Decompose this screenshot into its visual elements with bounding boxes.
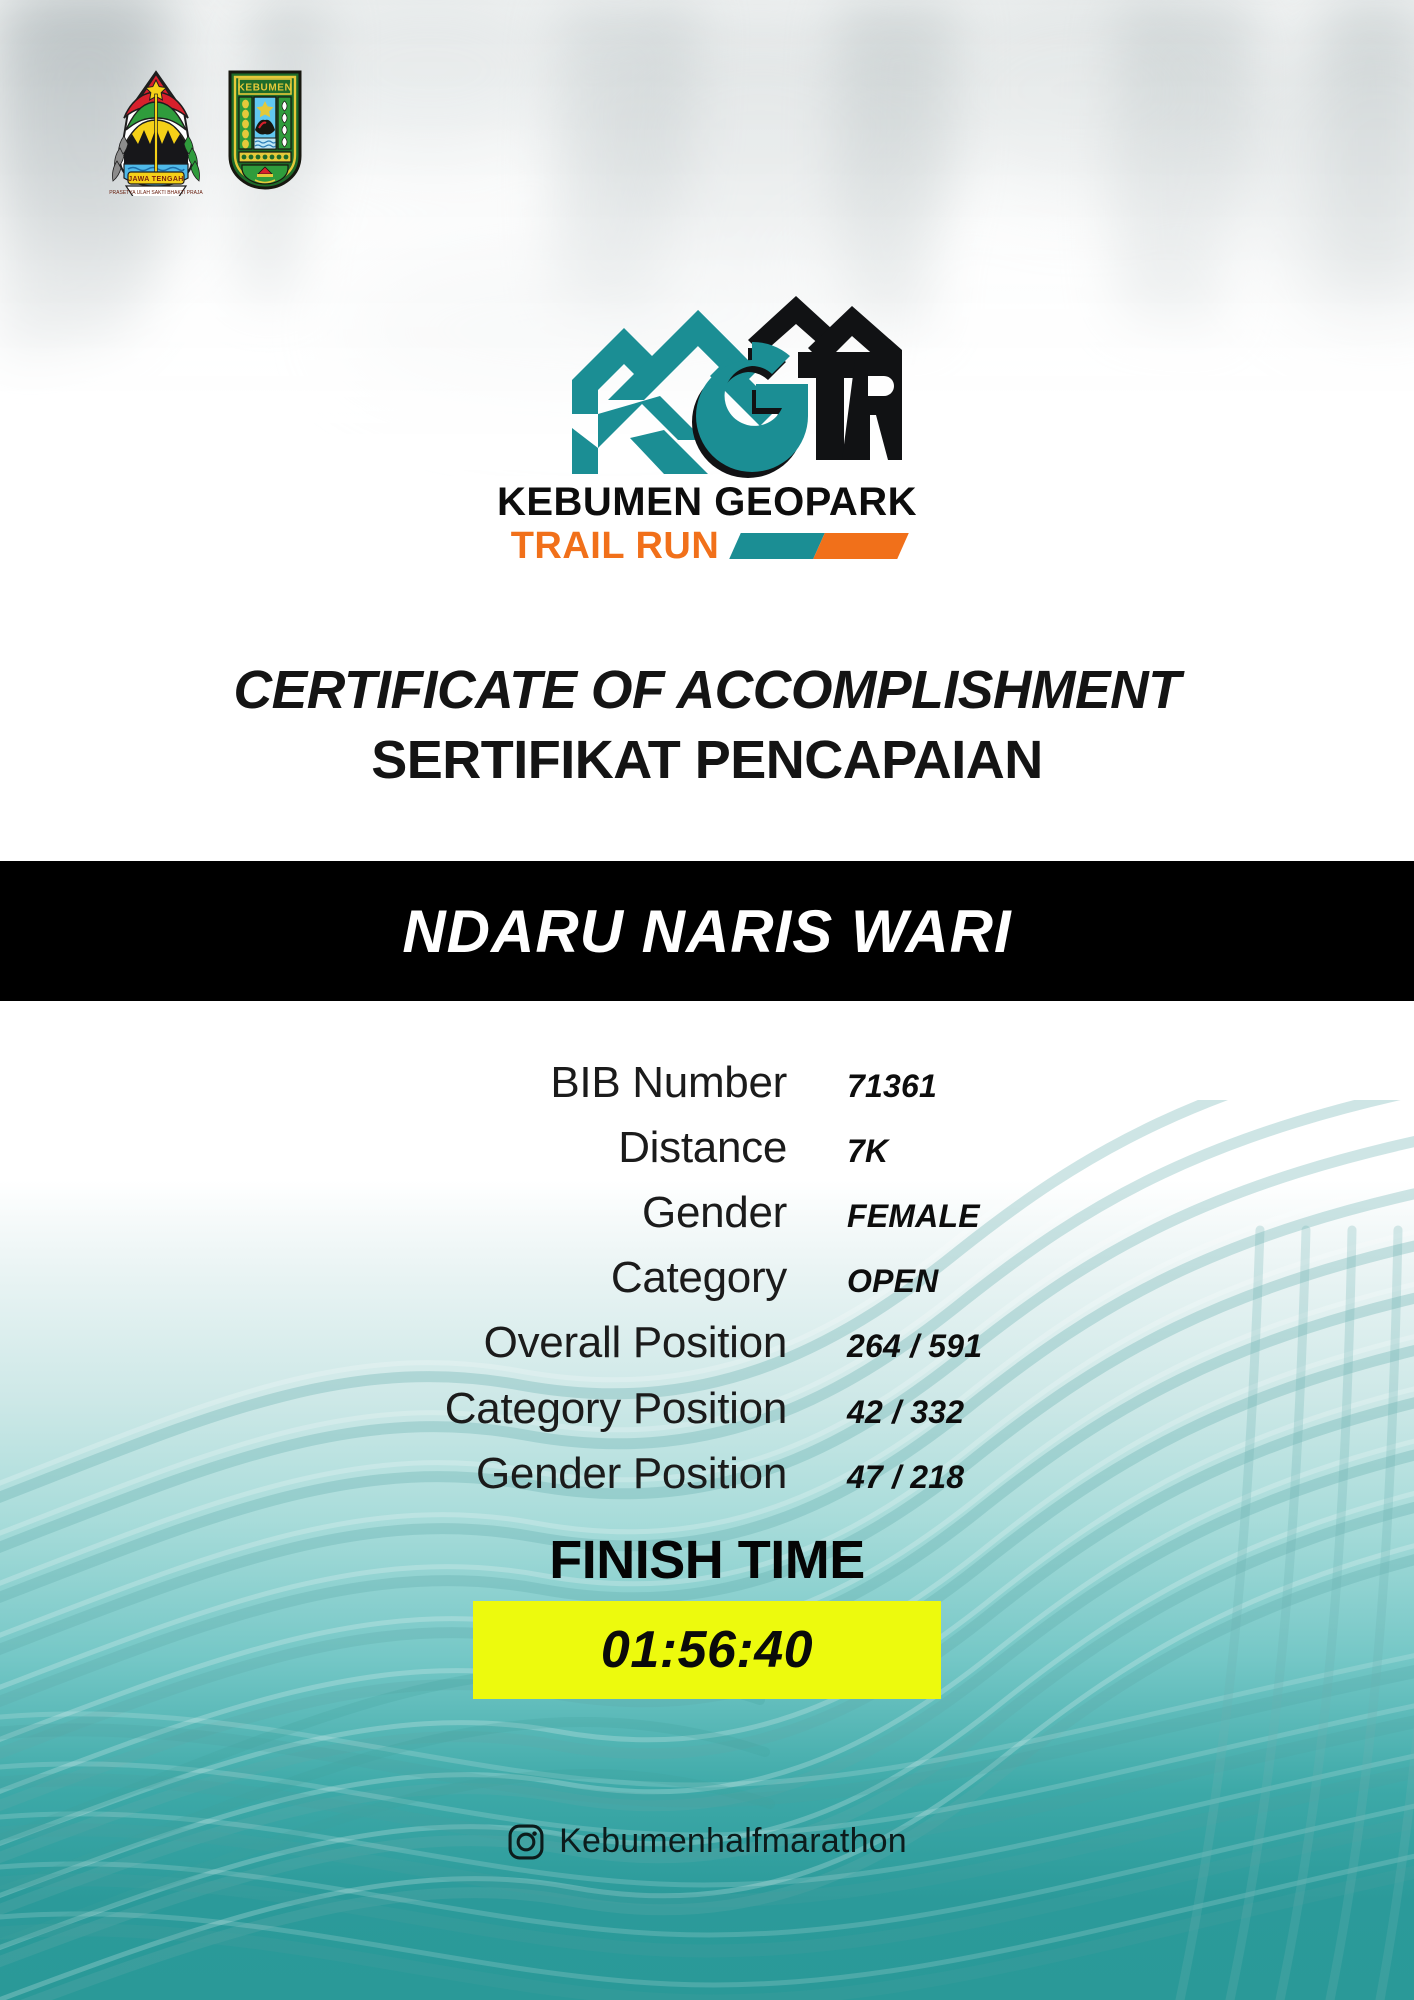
certificate-titles: CERTIFICATE OF ACCOMPLISHMENT SERTIFIKAT… <box>0 660 1414 791</box>
instagram-icon <box>507 1823 545 1861</box>
logo-bar-teal <box>729 533 825 559</box>
jawa-tengah-provincial-emblem: JAWA TENGAH PRASETYA ULAH SAKTI BHAKTI P… <box>108 68 204 196</box>
table-row: Gender FEMALE <box>327 1180 1087 1245</box>
detail-label: Overall Position <box>327 1310 787 1375</box>
logo-line-trail-run: TRAIL RUN <box>511 527 720 565</box>
detail-value: 7K <box>787 1133 1087 1170</box>
table-row: Distance 7K <box>327 1115 1087 1180</box>
detail-value: 42 / 332 <box>787 1394 1087 1431</box>
detail-value: 47 / 218 <box>787 1459 1087 1496</box>
detail-value: FEMALE <box>787 1198 1087 1235</box>
kgtr-monogram-icon <box>512 288 902 488</box>
logo-bar-orange <box>813 533 909 559</box>
finish-time-highlight: 01:56:40 <box>473 1601 941 1699</box>
detail-label: Gender Position <box>327 1441 787 1506</box>
finish-time-value: 01:56:40 <box>601 1620 813 1680</box>
event-logo: KEBUMEN GEOPARK TRAIL RUN <box>0 288 1414 565</box>
finish-time-block: FINISH TIME 01:56:40 <box>0 1532 1414 1699</box>
participant-name: NDARU NARIS WARI <box>402 897 1011 966</box>
table-row: Gender Position 47 / 218 <box>327 1441 1087 1506</box>
finish-time-label: FINISH TIME <box>549 1532 865 1589</box>
table-row: BIB Number 71361 <box>327 1050 1087 1115</box>
header-emblems: JAWA TENGAH PRASETYA ULAH SAKTI BHAKTI P… <box>108 68 308 196</box>
certificate-page: JAWA TENGAH PRASETYA ULAH SAKTI BHAKTI P… <box>0 0 1414 2000</box>
detail-label: Distance <box>327 1115 787 1180</box>
logo-line-kebumen-geopark: KEBUMEN GEOPARK <box>497 482 917 522</box>
instagram-handle: Kebumenhalfmarathon <box>559 1822 907 1861</box>
detail-value: OPEN <box>787 1263 1087 1300</box>
detail-label: Category <box>327 1245 787 1310</box>
footer-social: Kebumenhalfmarathon <box>0 1822 1414 1861</box>
table-row: Category Position 42 / 332 <box>327 1376 1087 1441</box>
table-row: Category OPEN <box>327 1245 1087 1310</box>
certificate-title-indonesian: SERTIFIKAT PENCAPAIAN <box>0 730 1414 790</box>
detail-label: Category Position <box>327 1376 787 1441</box>
logo-accent-bars <box>735 533 903 559</box>
logo-wordmark: KEBUMEN GEOPARK TRAIL RUN <box>497 482 917 565</box>
certificate-title-english: CERTIFICATE OF ACCOMPLISHMENT <box>7 660 1407 720</box>
participant-name-banner: NDARU NARIS WARI <box>0 861 1414 1001</box>
kebumen-regency-emblem: KEBUMEN <box>222 68 308 192</box>
result-details-table: BIB Number 71361 Distance 7K Gender FEMA… <box>0 1050 1414 1506</box>
logo-line-trail-run-row: TRAIL RUN <box>511 527 904 565</box>
table-row: Overall Position 264 / 591 <box>327 1310 1087 1375</box>
svg-text:JAWA TENGAH: JAWA TENGAH <box>128 176 183 183</box>
detail-label: Gender <box>327 1180 787 1245</box>
detail-value: 71361 <box>787 1068 1087 1105</box>
svg-text:PRASETYA ULAH SAKTI BHAKTI PRA: PRASETYA ULAH SAKTI BHAKTI PRAJA <box>109 190 203 196</box>
detail-label: BIB Number <box>327 1050 787 1115</box>
detail-value: 264 / 591 <box>787 1328 1087 1365</box>
svg-text:KEBUMEN: KEBUMEN <box>238 83 293 94</box>
